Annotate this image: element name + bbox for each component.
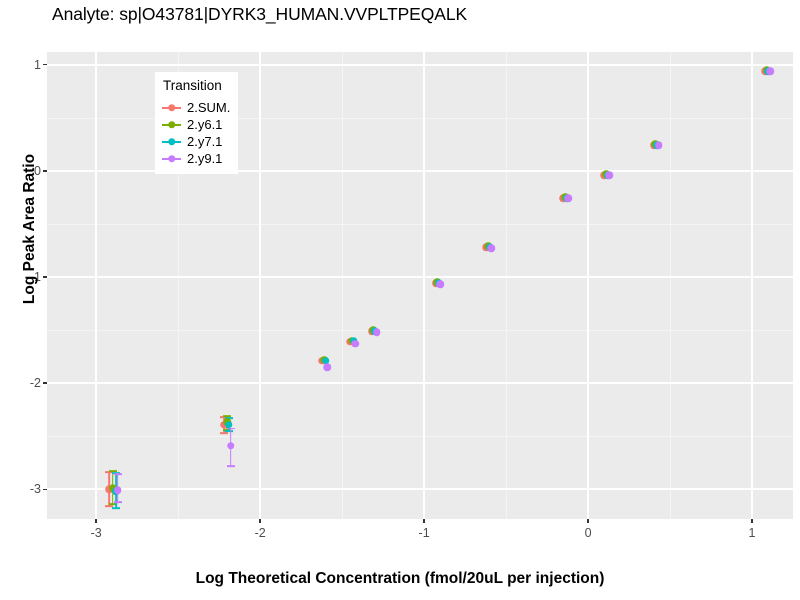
gridline-major-horizontal [47, 382, 793, 384]
x-axis-title: Log Theoretical Concentration (fmol/20uL… [0, 570, 800, 588]
gridline-major-vertical [95, 52, 97, 519]
error-bar-cap [227, 465, 235, 467]
legend-item-2-y9-1[interactable]: 2.y9.1 [162, 150, 230, 167]
legend-item-2-sum[interactable]: 2.SUM. [162, 99, 230, 116]
legend-item-label: 2.y7.1 [187, 134, 222, 149]
y-axis-title: Log Peak Area Ratio [21, 69, 39, 389]
gridline-major-vertical [423, 52, 425, 519]
x-axis-tick-label: -3 [91, 526, 102, 540]
x-axis-tick-mark [259, 519, 260, 523]
legend-title: Transition [163, 78, 230, 93]
x-axis-tick-mark [587, 519, 588, 523]
page-title: Analyte: sp|O43781|DYRK3_HUMAN.VVPLTPEQA… [52, 4, 467, 25]
gridline-major-horizontal [47, 488, 793, 490]
data-point [373, 328, 381, 336]
data-point [655, 142, 663, 150]
data-point [324, 363, 332, 371]
data-point [225, 421, 233, 429]
gridline-minor-horizontal [47, 436, 793, 437]
gridline-minor-vertical [506, 52, 507, 519]
legend-item-label: 2.y6.1 [187, 117, 222, 132]
gridline-major-vertical [259, 52, 261, 519]
data-point [488, 245, 496, 253]
error-bar-cap [112, 508, 120, 510]
chart-container: Analyte: sp|O43781|DYRK3_HUMAN.VVPLTPEQA… [0, 0, 800, 600]
y-axis-tick-mark [43, 276, 47, 277]
x-axis-tick-mark [95, 519, 96, 523]
legend-item-label: 2.SUM. [187, 100, 230, 115]
y-axis-tick-mark [43, 489, 47, 490]
data-point [437, 281, 445, 289]
gridline-major-vertical [587, 52, 589, 519]
legend-key-dot [168, 138, 176, 146]
data-point [227, 442, 235, 450]
gridline-major-horizontal [47, 276, 793, 278]
y-axis-tick-label: -3 [30, 482, 41, 496]
data-point [606, 171, 614, 179]
data-point [766, 67, 774, 75]
legend-item-2-y6-1[interactable]: 2.y6.1 [162, 116, 230, 133]
data-point [565, 195, 573, 203]
x-axis-tick-mark [423, 519, 424, 523]
legend-key-dot [168, 121, 176, 129]
gridline-major-vertical [751, 52, 753, 519]
legend-item-2-y7-1[interactable]: 2.y7.1 [162, 133, 230, 150]
legend-key-dot [168, 104, 176, 112]
x-axis-tick-label: -1 [419, 526, 430, 540]
gridline-minor-vertical [342, 52, 343, 519]
error-bar-cap [114, 474, 122, 476]
x-axis-tick-label: -2 [255, 526, 266, 540]
y-axis-tick-mark [43, 382, 47, 383]
data-point [114, 487, 122, 495]
legend-key-point-icon [162, 133, 181, 150]
legend-key-point-icon [162, 116, 181, 133]
y-axis-tick-mark [43, 170, 47, 171]
legend-key-point-icon [162, 99, 181, 116]
legend-items: 2.SUM.2.y6.12.y7.12.y9.1 [162, 99, 230, 167]
x-axis-tick-label: 0 [585, 526, 592, 540]
gridline-minor-horizontal [47, 224, 793, 225]
legend-key-dot [168, 155, 176, 163]
gridline-minor-horizontal [47, 330, 793, 331]
gridline-minor-vertical [670, 52, 671, 519]
gridline-major-horizontal [47, 64, 793, 66]
legend-key-point-icon [162, 150, 181, 167]
legend-item-label: 2.y9.1 [187, 151, 222, 166]
x-axis-tick-mark [751, 519, 752, 523]
error-bar-cap [114, 501, 122, 503]
data-point [351, 340, 359, 348]
error-bar-cap [220, 432, 228, 434]
legend: Transition 2.SUM.2.y6.12.y7.12.y9.1 [155, 72, 238, 174]
x-axis-tick-label: 1 [749, 526, 756, 540]
y-axis-tick-mark [43, 64, 47, 65]
